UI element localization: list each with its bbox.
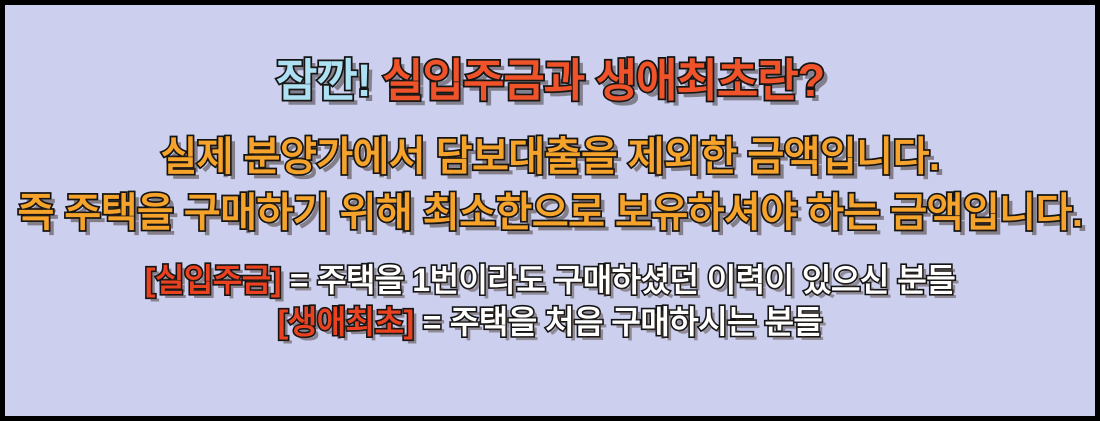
title-spacer xyxy=(371,55,383,106)
body-line-2: 즉 주택을 구매하기 위해 최소한으로 보유하셔야 하는 금액입니다. xyxy=(5,192,1095,234)
definition-separator-1: = xyxy=(290,264,308,298)
title-main: 실입주금과 생애최초란? xyxy=(382,55,824,106)
body-line-1: 실제 분양가에서 담보대출을 제외한 금액입니다. xyxy=(5,136,1095,178)
title-highlight: 잠깐! xyxy=(276,55,371,106)
definition-description-2: 주택을 처음 구매하시는 분들 xyxy=(450,306,822,340)
definition-term-2: [생애최초] xyxy=(278,306,414,340)
definition-row-1: [실입주금] = 주택을 1번이라도 구매하셨던 이력이 있으신 분들 xyxy=(5,264,1095,298)
definition-description-1: 주택을 1번이라도 구매하셨던 이력이 있으신 분들 xyxy=(317,264,955,298)
page-title: 잠깐! 실입주금과 생애최초란? xyxy=(5,57,1095,104)
definition-term-1: [실입주금] xyxy=(145,264,281,298)
info-card: 잠깐! 실입주금과 생애최초란? 실제 분양가에서 담보대출을 제외한 금액입니… xyxy=(0,0,1100,421)
definition-separator-2: = xyxy=(423,306,441,340)
definition-row-2: [생애최초] = 주택을 처음 구매하시는 분들 xyxy=(5,306,1095,340)
